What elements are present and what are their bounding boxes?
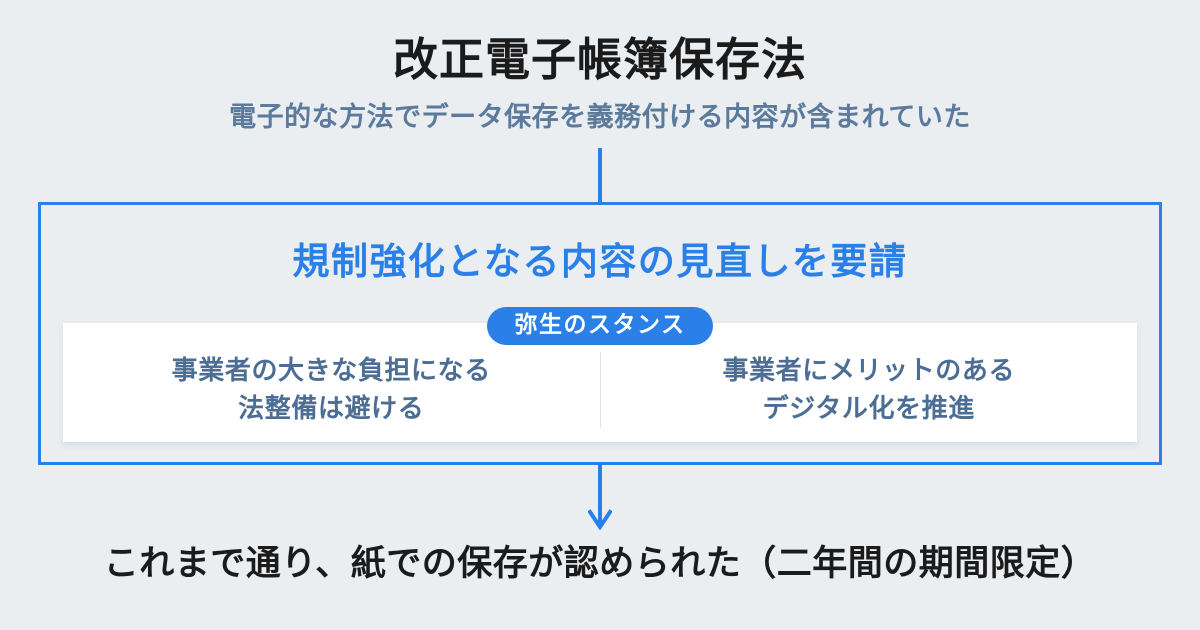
stance-column-left: 事業者の大きな負担になる 法整備は避ける [63,338,600,427]
status-badge: 弥生のスタンス [487,307,712,345]
infographic-canvas: 改正電子帳簿保存法 電子的な方法でデータ保存を義務付ける内容が含まれていた 規制… [0,0,1200,630]
stance-right-line2: デジタル化を推進 [601,390,1138,428]
conclusion-text: これまで通り、紙での保存が認められた（二年間の期間限定） [0,543,1200,585]
stance-left-line2: 法整備は避ける [63,390,600,428]
main-callout-box: 規制強化となる内容の見直しを要請 弥生のスタンス 事業者の大きな負担になる 法整… [38,202,1162,465]
down-arrow-icon [588,464,612,530]
page-subtitle: 電子的な方法でデータ保存を義務付ける内容が含まれていた [0,101,1200,133]
stance-left-line1: 事業者の大きな負担になる [63,352,600,390]
stance-right-line1: 事業者にメリットのある [601,352,1138,390]
badge-container: 弥生のスタンス [41,307,1159,345]
connector-line-top [598,148,602,204]
callout-heading: 規制強化となる内容の見直しを要請 [41,231,1159,285]
stance-column-right: 事業者にメリットのある デジタル化を推進 [601,338,1138,427]
page-title: 改正電子帳簿保存法 [0,33,1200,86]
